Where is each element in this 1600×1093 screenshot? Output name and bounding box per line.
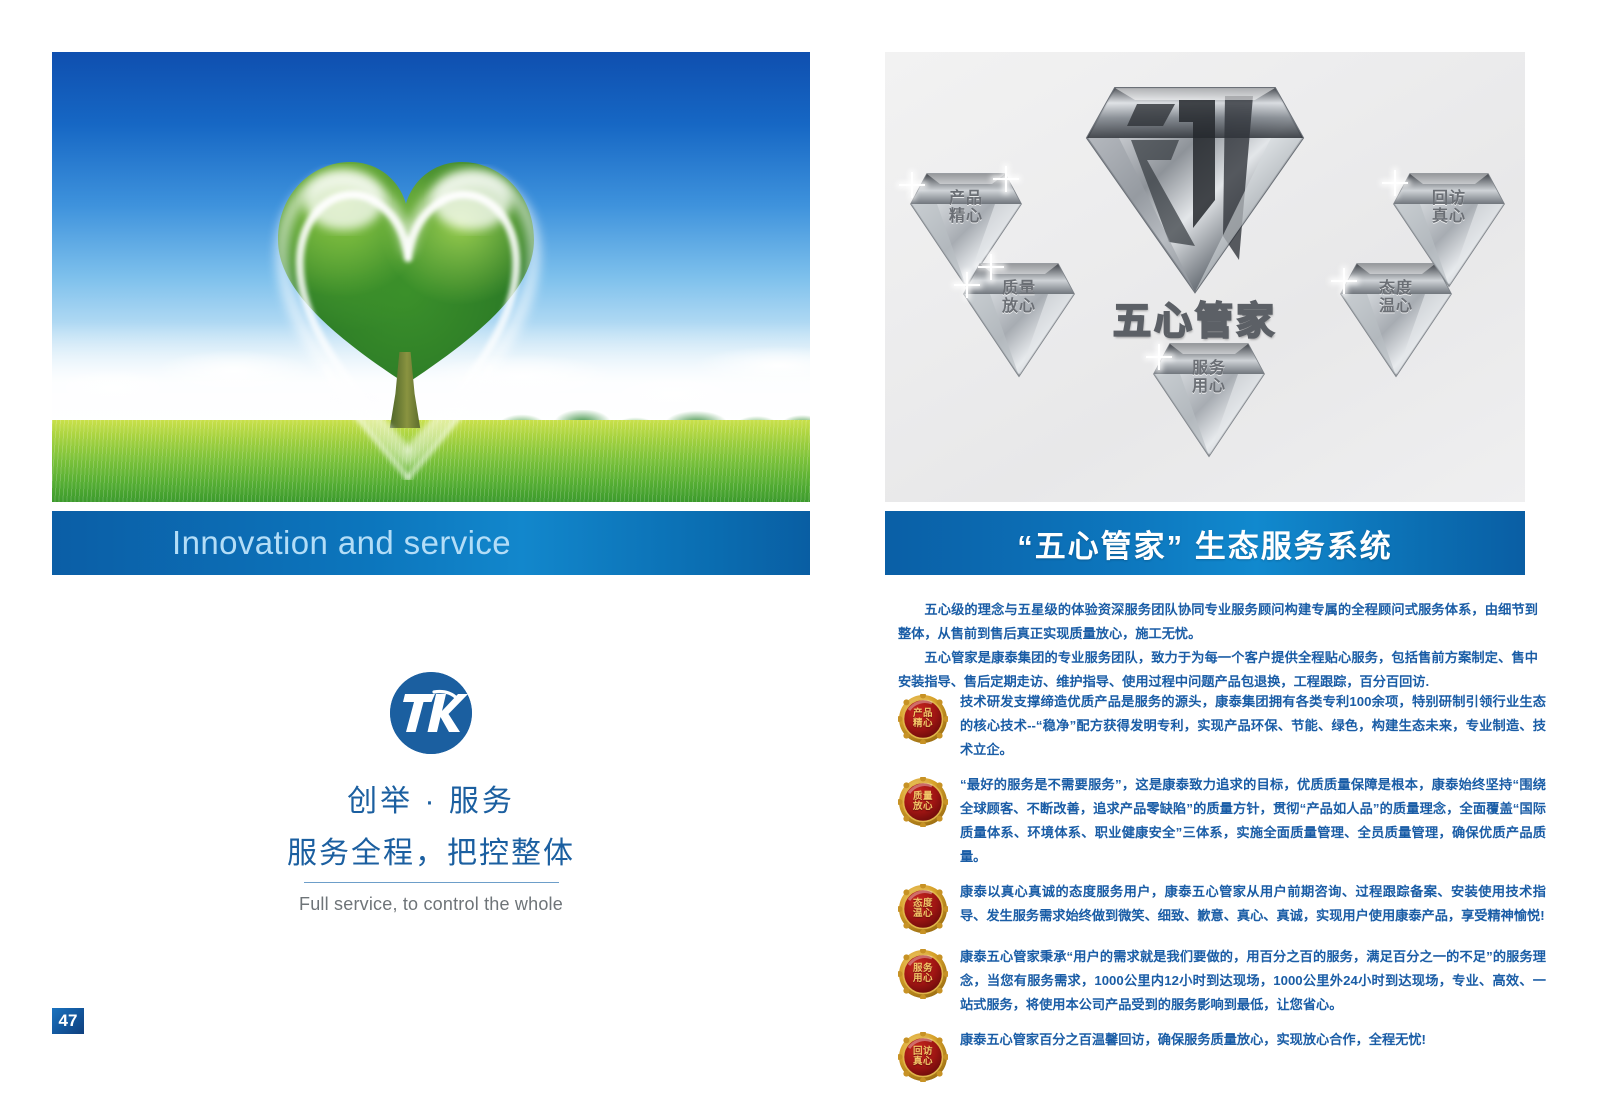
list-item: 质量 放心 “最好的服务是不需要服务”，这是康泰致力追求的目标，优质质量保障是根…	[898, 773, 1546, 869]
medal-label-line2: 用心	[913, 974, 933, 984]
five-heart-diamond-graphic: 五心管家	[885, 52, 1525, 502]
right-banner: “五心管家” 生态服务系统	[885, 511, 1525, 575]
medal-product-care: 产品 精心	[898, 694, 948, 744]
medal-label-line2: 真心	[913, 1057, 933, 1067]
list-item: 产品 精心 技术研发支撑缔造优质产品是服务的源头，康泰集团拥有各类专利100余项…	[898, 690, 1546, 762]
brand-tagline-cn-secondary: 服务全程，把控整体	[287, 828, 575, 872]
brand-divider	[304, 882, 559, 883]
right-banner-title: “五心管家” 生态服务系统	[1017, 521, 1393, 566]
intro-paragraph-1: 五心级的理念与五星级的体验资深服务团队协同专业服务顾问构建专属的全程顾问式服务体…	[898, 598, 1538, 646]
gem-label-line2: 用心	[1150, 378, 1268, 396]
list-item: 服务 用心 康泰五心管家秉承“用户的需求就是我们要做的，用百分之百的服务，满足百…	[898, 945, 1546, 1017]
gem-service-devotion: 服务 用心	[1150, 330, 1268, 462]
gem-label-line1: 产品	[907, 190, 1025, 208]
gem-label-line1: 回访	[1390, 190, 1508, 208]
right-page: 五心管家	[810, 0, 1600, 1086]
gem-label-line2: 真心	[1390, 208, 1508, 226]
gem-label-line2: 放心	[960, 298, 1078, 316]
medal-label-line2: 精心	[913, 719, 933, 729]
bullet-text: 技术研发支撑缔造优质产品是服务的源头，康泰集团拥有各类专利100余项，特别研制引…	[960, 690, 1546, 762]
gem-label-line2: 温心	[1337, 298, 1455, 316]
intro-paragraphs: 五心级的理念与五星级的体验资深服务团队协同专业服务顾问构建专属的全程顾问式服务体…	[898, 598, 1538, 694]
left-banner: Innovation and service	[52, 511, 810, 575]
grass-field	[52, 420, 810, 502]
medal-followup-sincerity: 回访 真心	[898, 1032, 948, 1082]
gem-label-line1: 服务	[1150, 360, 1268, 378]
medal-label-line2: 温心	[913, 909, 933, 919]
list-item: 态度 温心 康泰以真心真诚的态度服务用户，康泰五心管家从用户前期咨询、过程跟踪备…	[898, 880, 1546, 934]
intro-paragraph-2: 五心管家是康泰集团的专业服务团队，致力于为每一个客户提供全程贴心服务，包括售前方…	[898, 646, 1538, 694]
gem-quality-assurance: 质量 放心	[960, 250, 1078, 382]
service-bullet-list: 产品 精心 技术研发支撑缔造优质产品是服务的源头，康泰集团拥有各类专利100余项…	[898, 690, 1546, 1093]
brand-block: 创举 · 服务 服务全程，把控整体 Full service, to contr…	[52, 672, 810, 915]
medal-quality-assurance: 质量 放心	[898, 777, 948, 827]
five-heart-emblem-icon	[1075, 60, 1315, 310]
gem-followup-sincerity: 回访 真心	[1390, 160, 1508, 292]
gem-label-line1: 质量	[960, 280, 1078, 298]
brand-tagline-cn-primary: 创举 · 服务	[347, 776, 515, 820]
left-page: Innovation and service 创举 · 服务 服务全程，把控整体…	[0, 0, 810, 1086]
bullet-text: “最好的服务是不需要服务”，这是康泰致力追求的目标，优质质量保障是根本，康泰始终…	[960, 773, 1546, 869]
bullet-text: 康泰五心管家秉承“用户的需求就是我们要做的，用百分之百的服务，满足百分之一的不足…	[960, 945, 1546, 1017]
medal-attitude-warmth: 态度 温心	[898, 884, 948, 934]
gem-label-line2: 精心	[907, 208, 1025, 226]
medal-label-line2: 放心	[913, 802, 933, 812]
hero-image-heart-tree	[52, 52, 810, 502]
brochure-spread: Innovation and service 创举 · 服务 服务全程，把控整体…	[0, 0, 1600, 1086]
medal-service-devotion: 服务 用心	[898, 949, 948, 999]
tk-logo-icon	[390, 672, 472, 754]
page-number-left: 47	[52, 1008, 84, 1034]
brand-tagline-en: Full service, to control the whole	[299, 894, 563, 915]
left-banner-title: Innovation and service	[172, 524, 511, 562]
bullet-text: 康泰五心管家百分之百温馨回访，确保服务质量放心，实现放心合作，全程无忧!	[960, 1028, 1546, 1052]
list-item: 回访 真心 康泰五心管家百分之百温馨回访，确保服务质量放心，实现放心合作，全程无…	[898, 1028, 1546, 1082]
bullet-text: 康泰以真心真诚的态度服务用户，康泰五心管家从用户前期咨询、过程跟踪备案、安装使用…	[960, 880, 1546, 928]
